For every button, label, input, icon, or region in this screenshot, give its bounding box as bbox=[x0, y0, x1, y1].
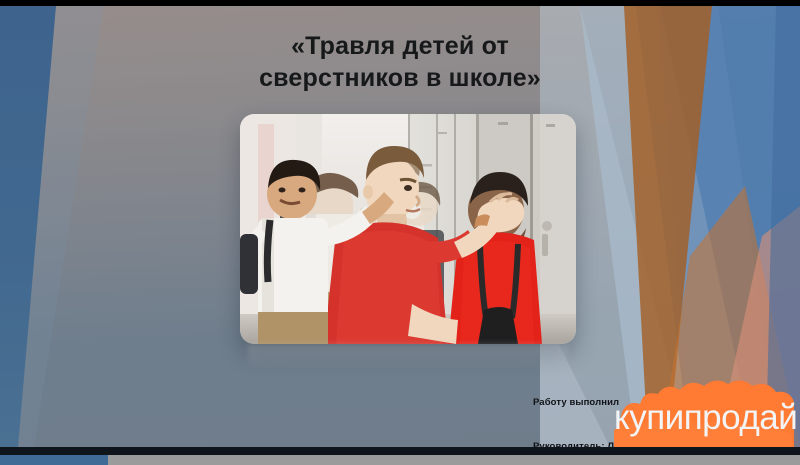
bottom-left-blue-strip bbox=[0, 455, 108, 465]
bottom-light-strip bbox=[0, 455, 800, 465]
top-letterbox-bar bbox=[0, 0, 800, 6]
photo-reflection bbox=[248, 344, 568, 370]
bottom-dark-band bbox=[0, 447, 800, 455]
slide-title: «Травля детей от сверстников в школе» bbox=[120, 30, 680, 94]
school-bullying-photo bbox=[240, 114, 576, 344]
credit-author-line: Работу выполнил bbox=[533, 398, 783, 408]
presentation-slide: «Травля детей от сверстников в школе» bbox=[0, 6, 800, 447]
video-frame: «Травля детей от сверстников в школе» bbox=[0, 0, 800, 465]
